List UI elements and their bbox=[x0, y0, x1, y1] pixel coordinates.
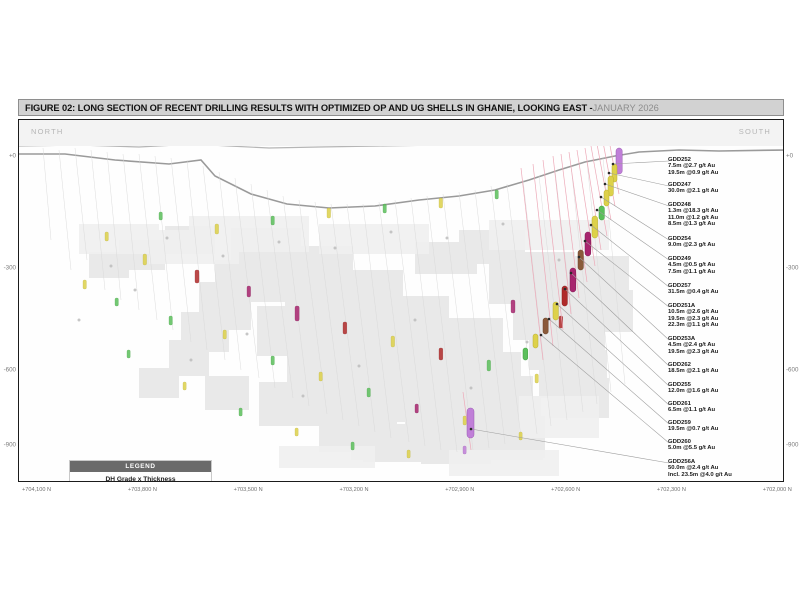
northing-tick-1: +703,800 N bbox=[128, 487, 157, 493]
annotation-gdd262: GDD26218.5m @2.1 g/t Au bbox=[668, 362, 718, 375]
drillhole-annotation-list: GDD2527.5m @2.7 g/t Au19.5m @0.9 g/t AuG… bbox=[668, 119, 800, 482]
northing-tick-4: +702,900 N bbox=[445, 487, 474, 493]
annotation-gdd255: GDD25512.0m @1.6 g/t Au bbox=[668, 382, 718, 395]
annotation-interval: 1.3m @18.3 g/t Au bbox=[668, 208, 718, 214]
northing-tick-0: +704,100 N bbox=[22, 487, 51, 493]
annotation-interval: 6.5m @1.1 g/t Au bbox=[668, 407, 715, 413]
elevation-tick--300: -300 bbox=[4, 265, 16, 272]
northing-tick-6: +702,300 N bbox=[657, 487, 686, 493]
leader-anchor-dot bbox=[604, 183, 607, 186]
figure-title-date: JANUARY 2026 bbox=[593, 103, 659, 113]
annotation-interval: Incl. 23.5m @4.0 g/t Au bbox=[668, 472, 732, 478]
leader-anchor-dot bbox=[470, 428, 473, 431]
legend-grade-title: DH Grade x Thickness (gmpt) bbox=[70, 476, 211, 482]
legend-grade-title-line1: DH Grade x Thickness bbox=[70, 476, 211, 482]
leader-line-gdd247 bbox=[609, 173, 669, 186]
figure-title-text: FIGURE 02: LONG SECTION OF RECENT DRILLI… bbox=[25, 103, 593, 113]
leader-anchor-dot bbox=[612, 163, 615, 166]
leader-anchor-dot bbox=[596, 209, 599, 212]
annotation-interval: 8.5m @1.3 g/t Au bbox=[668, 221, 718, 227]
annotation-gdd248: GDD2481.3m @18.3 g/t Au11.0m @1.2 g/t Au… bbox=[668, 202, 718, 228]
leader-line-gdd254 bbox=[601, 197, 669, 240]
annotation-interval: 4.5m @2.4 g/t Au bbox=[668, 342, 718, 348]
annotation-interval: 10.5m @2.6 g/t Au bbox=[668, 309, 718, 315]
annotation-gdd249: GDD2494.5m @0.5 g/t Au7.5m @1.1 g/t Au bbox=[668, 256, 715, 275]
annotation-interval: 19.5m @0.9 g/t Au bbox=[668, 170, 718, 176]
elevation-tick--900: -900 bbox=[4, 442, 16, 449]
annotation-gdd253a: GDD253A4.5m @2.4 g/t Au19.5m @2.3 g/t Au bbox=[668, 336, 718, 355]
leader-anchor-dot bbox=[556, 303, 559, 306]
leader-anchor-dot bbox=[548, 318, 551, 321]
northing-tick-5: +702,600 N bbox=[551, 487, 580, 493]
northing-axis: +704,100 N+703,800 N+703,500 N+703,200 N… bbox=[18, 484, 784, 500]
leader-anchor-dot bbox=[584, 240, 587, 243]
annotation-interval: 31.5m @0.4 g/t Au bbox=[668, 289, 718, 295]
annotation-interval: 22.3m @1.1 g/t Au bbox=[668, 322, 718, 328]
annotation-gdd252: GDD2527.5m @2.7 g/t Au19.5m @0.9 g/t Au bbox=[668, 157, 718, 176]
annotation-gdd256a: GDD256A50.0m @2.4 g/t AuIncl. 23.5m @4.0… bbox=[668, 459, 732, 478]
leader-anchor-dot bbox=[564, 288, 567, 291]
annotation-interval: 19.5m @2.3 g/t Au bbox=[668, 349, 718, 355]
leader-anchor-dot bbox=[600, 196, 603, 199]
legend-panel: LEGEND DH Grade x Thickness (gmpt) 60402… bbox=[69, 460, 212, 482]
annotation-interval: 7.5m @1.1 g/t Au bbox=[668, 269, 715, 275]
annotation-interval: 12.0m @1.6 g/t Au bbox=[668, 388, 718, 394]
leader-anchor-dot bbox=[540, 334, 543, 337]
annotation-gdd259: GDD25919.5m @0.7 g/t Au bbox=[668, 420, 718, 433]
annotation-gdd251a: GDD251A10.5m @2.6 g/t Au19.5m @2.3 g/t A… bbox=[668, 303, 718, 329]
annotation-interval: 7.5m @2.7 g/t Au bbox=[668, 163, 718, 169]
annotation-interval: 5.0m @5.5 g/t Au bbox=[668, 445, 715, 451]
annotation-interval: 30.0m @2.1 g/t Au bbox=[668, 188, 718, 194]
leader-anchor-dot bbox=[590, 224, 593, 227]
annotation-gdd260: GDD2605.0m @5.5 g/t Au bbox=[668, 439, 715, 452]
elevation-tick--600: -600 bbox=[4, 367, 16, 374]
figure-root: FIGURE 02: LONG SECTION OF RECENT DRILLI… bbox=[0, 0, 800, 600]
annotation-interval: 4.5m @0.5 g/t Au bbox=[668, 262, 715, 268]
legend-header: LEGEND bbox=[70, 461, 211, 472]
leader-anchor-dot bbox=[570, 272, 573, 275]
annotation-interval: 19.5m @0.7 g/t Au bbox=[668, 426, 718, 432]
northing-tick-3: +703,200 N bbox=[339, 487, 368, 493]
annotation-gdd257: GDD25731.5m @0.4 g/t Au bbox=[668, 283, 718, 296]
northing-tick-2: +703,500 N bbox=[234, 487, 263, 493]
elevation-axis-left: +0-300-600-900 bbox=[0, 119, 18, 482]
leader-anchor-dot bbox=[578, 256, 581, 259]
northing-tick-7: +702,000 N bbox=[763, 487, 792, 493]
annotation-interval: 18.5m @2.1 g/t Au bbox=[668, 368, 718, 374]
direction-label-north: NORTH bbox=[31, 127, 64, 136]
elevation-tick-0: +0 bbox=[9, 153, 16, 160]
annotation-gdd254: GDD2549.0m @2.3 g/t Au bbox=[668, 236, 715, 249]
leader-anchor-dot bbox=[608, 172, 611, 175]
annotation-gdd261: GDD2616.5m @1.1 g/t Au bbox=[668, 401, 715, 414]
figure-title-bar: FIGURE 02: LONG SECTION OF RECENT DRILLI… bbox=[18, 99, 784, 116]
annotation-gdd247: GDD24730.0m @2.1 g/t Au bbox=[668, 182, 718, 195]
annotation-interval: 9.0m @2.3 g/t Au bbox=[668, 242, 715, 248]
